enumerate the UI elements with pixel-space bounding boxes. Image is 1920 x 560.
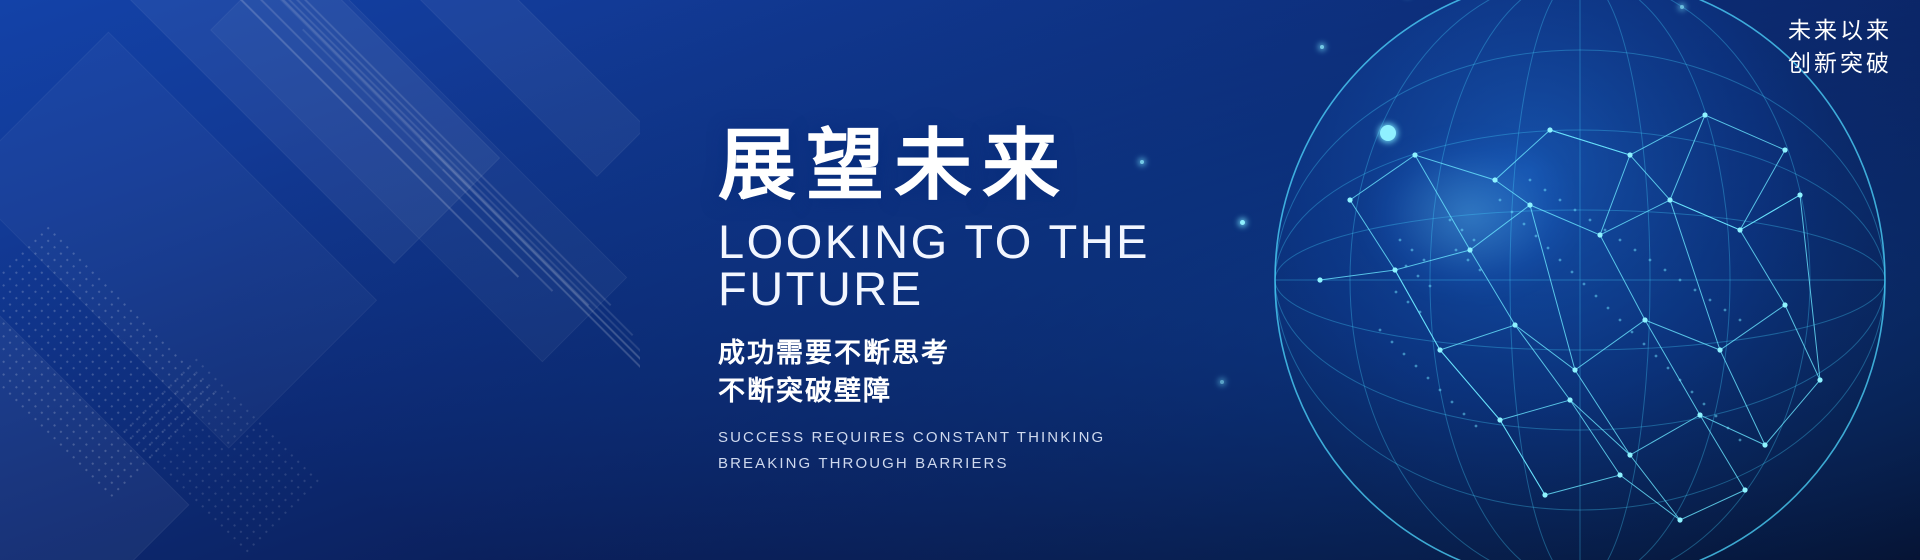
- subheadline-en-line2: BREAKING THROUGH BARRIERS: [718, 451, 1358, 477]
- subheadline-en: SUCCESS REQUIRES CONSTANT THINKING BREAK…: [718, 425, 1358, 478]
- corner-slogan-line1: 未来以来: [1788, 14, 1892, 47]
- geometric-decoration: [0, 0, 640, 560]
- corner-slogan: 未来以来 创新突破: [1788, 14, 1892, 79]
- corner-slogan-line2: 创新突破: [1788, 47, 1892, 80]
- subheadline-en-line1: SUCCESS REQUIRES CONSTANT THINKING: [718, 425, 1358, 451]
- subheadline-cn-line2: 不断突破壁障: [718, 372, 1358, 410]
- hero-banner: 展望未来 LOOKING TO THE FUTURE 成功需要不断思考 不断突破…: [0, 0, 1920, 560]
- headline-cn: 展望未来: [718, 126, 1358, 204]
- globe-highlight-spark: [1380, 125, 1396, 141]
- particle-dot: [1320, 45, 1324, 49]
- copy-block: 展望未来 LOOKING TO THE FUTURE 成功需要不断思考 不断突破…: [718, 126, 1358, 477]
- headline-en: LOOKING TO THE FUTURE: [718, 218, 1358, 312]
- particle-dot: [1680, 5, 1684, 9]
- subheadline-cn: 成功需要不断思考 不断突破壁障: [718, 334, 1358, 411]
- subheadline-cn-line1: 成功需要不断思考: [718, 334, 1358, 372]
